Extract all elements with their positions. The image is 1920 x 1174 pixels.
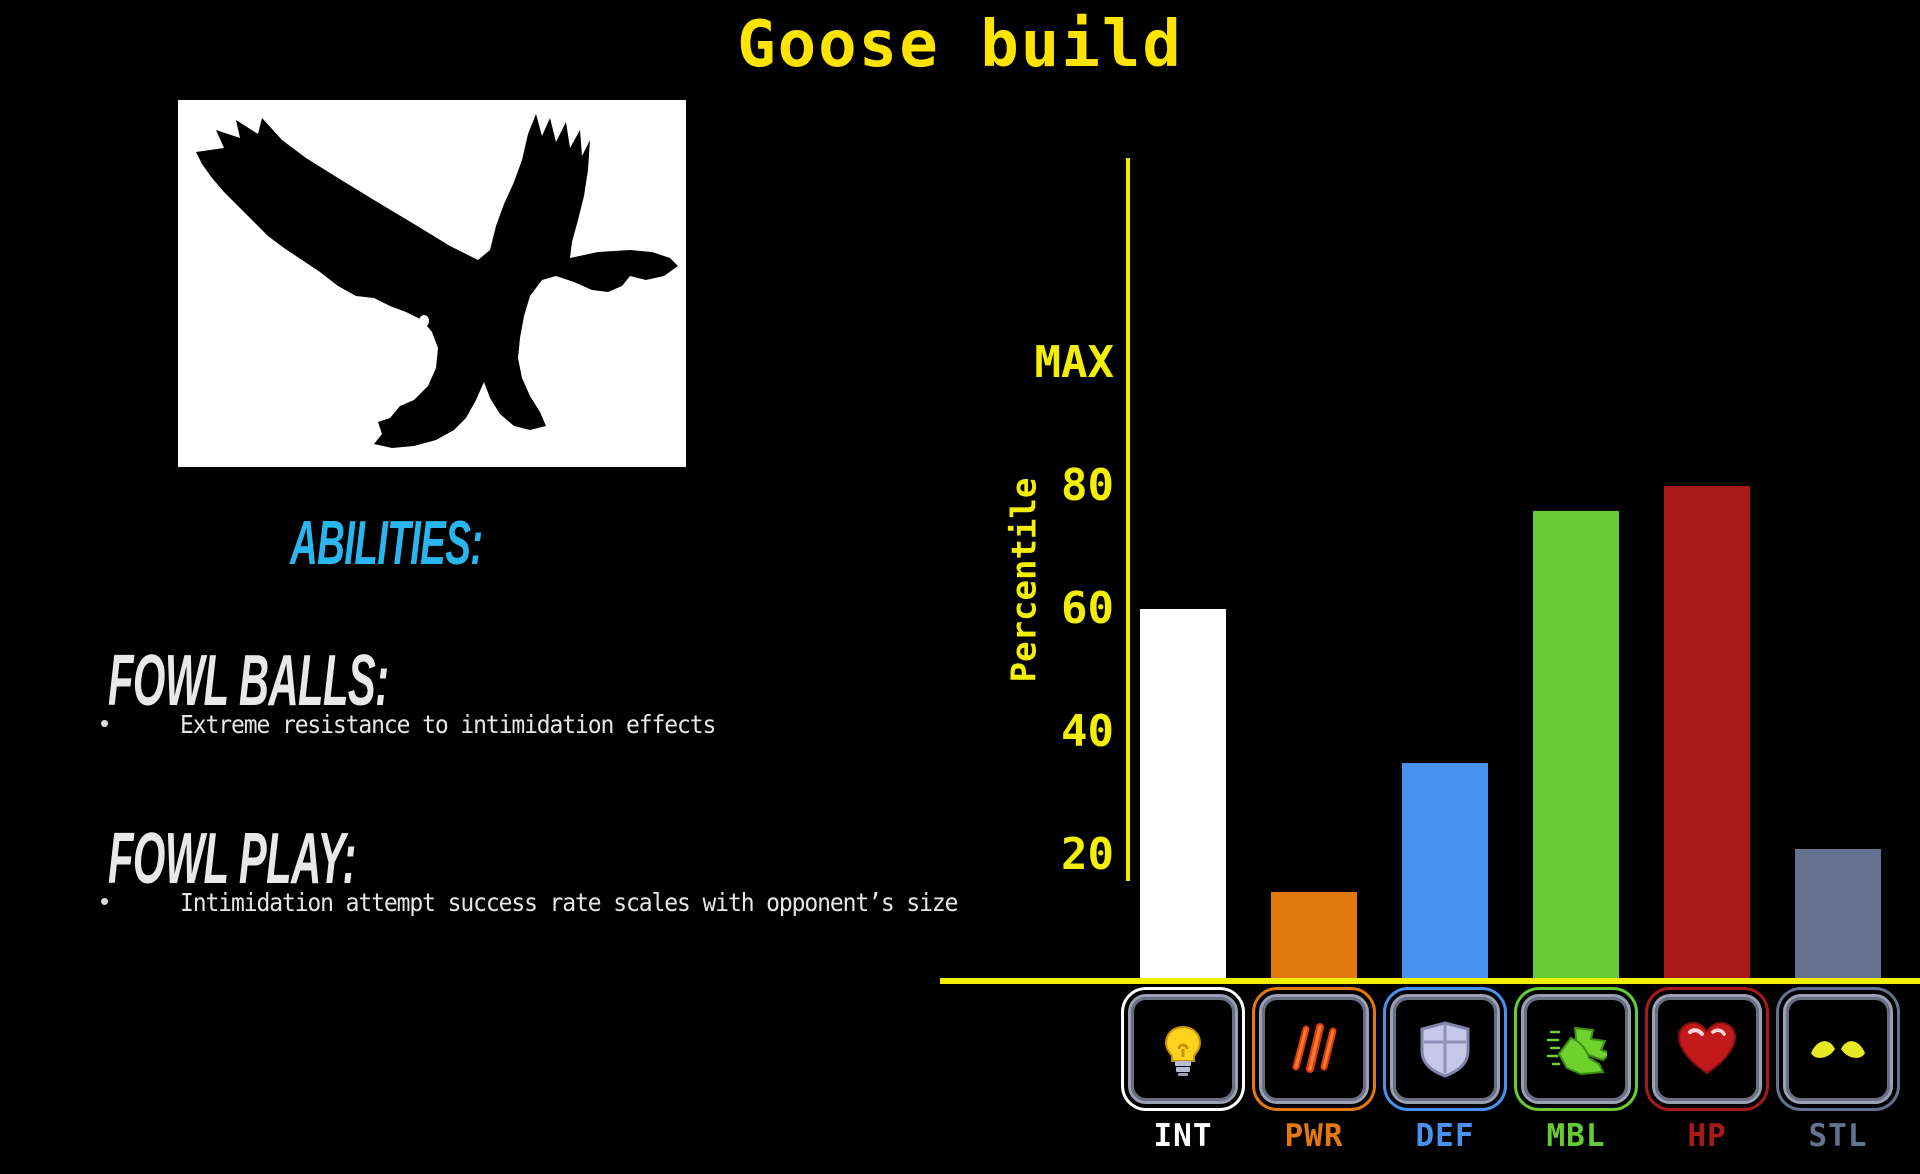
abilities-heading: ABILITIES: [290,508,482,579]
ability-description: Intimidation attempt success rate scales… [180,888,957,917]
lightbulb-icon[interactable] [1128,994,1238,1104]
plot-area [1130,120,1920,978]
stat-label-pwr: PWR [1255,1118,1373,1154]
stat-slot-def[interactable]: DEF [1386,994,1504,1154]
stat-icon-row: INTPWRDEFMBLHPSTL [1130,994,1920,1174]
goose-silhouette-icon [178,100,686,467]
stat-label-int: INT [1124,1118,1242,1154]
stat-label-mbl: MBL [1517,1118,1635,1154]
stat-label-hp: HP [1648,1118,1766,1154]
y-tick-label: 60 [1061,583,1114,634]
y-tick-label: 80 [1061,460,1114,511]
y-tick-label: 40 [1061,706,1114,757]
claw-icon[interactable] [1259,994,1369,1104]
ability-bullet-row: • Extreme resistance to intimidation eff… [100,710,762,739]
bar-def [1402,763,1488,978]
slide-root: Goose build ABILITIES: FOWL BALLS: • Ext… [0,0,1920,1080]
heart-icon[interactable] [1652,994,1762,1104]
page-title: Goose build [0,8,1920,82]
bar-mbl [1533,511,1619,978]
stat-slot-mbl[interactable]: MBL [1517,994,1635,1154]
bar-int [1140,609,1226,978]
y-axis-label: Percentile [1004,478,1044,683]
ability-bullet-row: • Intimidation attempt success rate scal… [100,888,1025,917]
bullet-marker: • [100,710,180,736]
stat-slot-hp[interactable]: HP [1648,994,1766,1154]
winged-boot-icon[interactable] [1521,994,1631,1104]
x-axis-line [940,978,1920,984]
y-tick-label: MAX [1035,337,1114,388]
bar-pwr [1271,892,1357,978]
y-tick-label: 20 [1061,829,1114,880]
eyes-icon[interactable] [1783,994,1893,1104]
stat-slot-stl[interactable]: STL [1779,994,1897,1154]
stat-slot-pwr[interactable]: PWR [1255,994,1373,1154]
ability-description: Extreme resistance to intimidation effec… [180,710,715,739]
bar-hp [1664,486,1750,978]
bar-stl [1795,849,1881,978]
stats-bar-chart: Percentile 20406080MAX INTPWRDEFMBLHPSTL [940,120,1920,1060]
stat-label-stl: STL [1779,1118,1897,1154]
bullet-marker: • [100,888,180,914]
stat-label-def: DEF [1386,1118,1504,1154]
stat-slot-int[interactable]: INT [1124,994,1242,1154]
character-portrait [178,100,686,467]
shield-icon[interactable] [1390,994,1500,1104]
